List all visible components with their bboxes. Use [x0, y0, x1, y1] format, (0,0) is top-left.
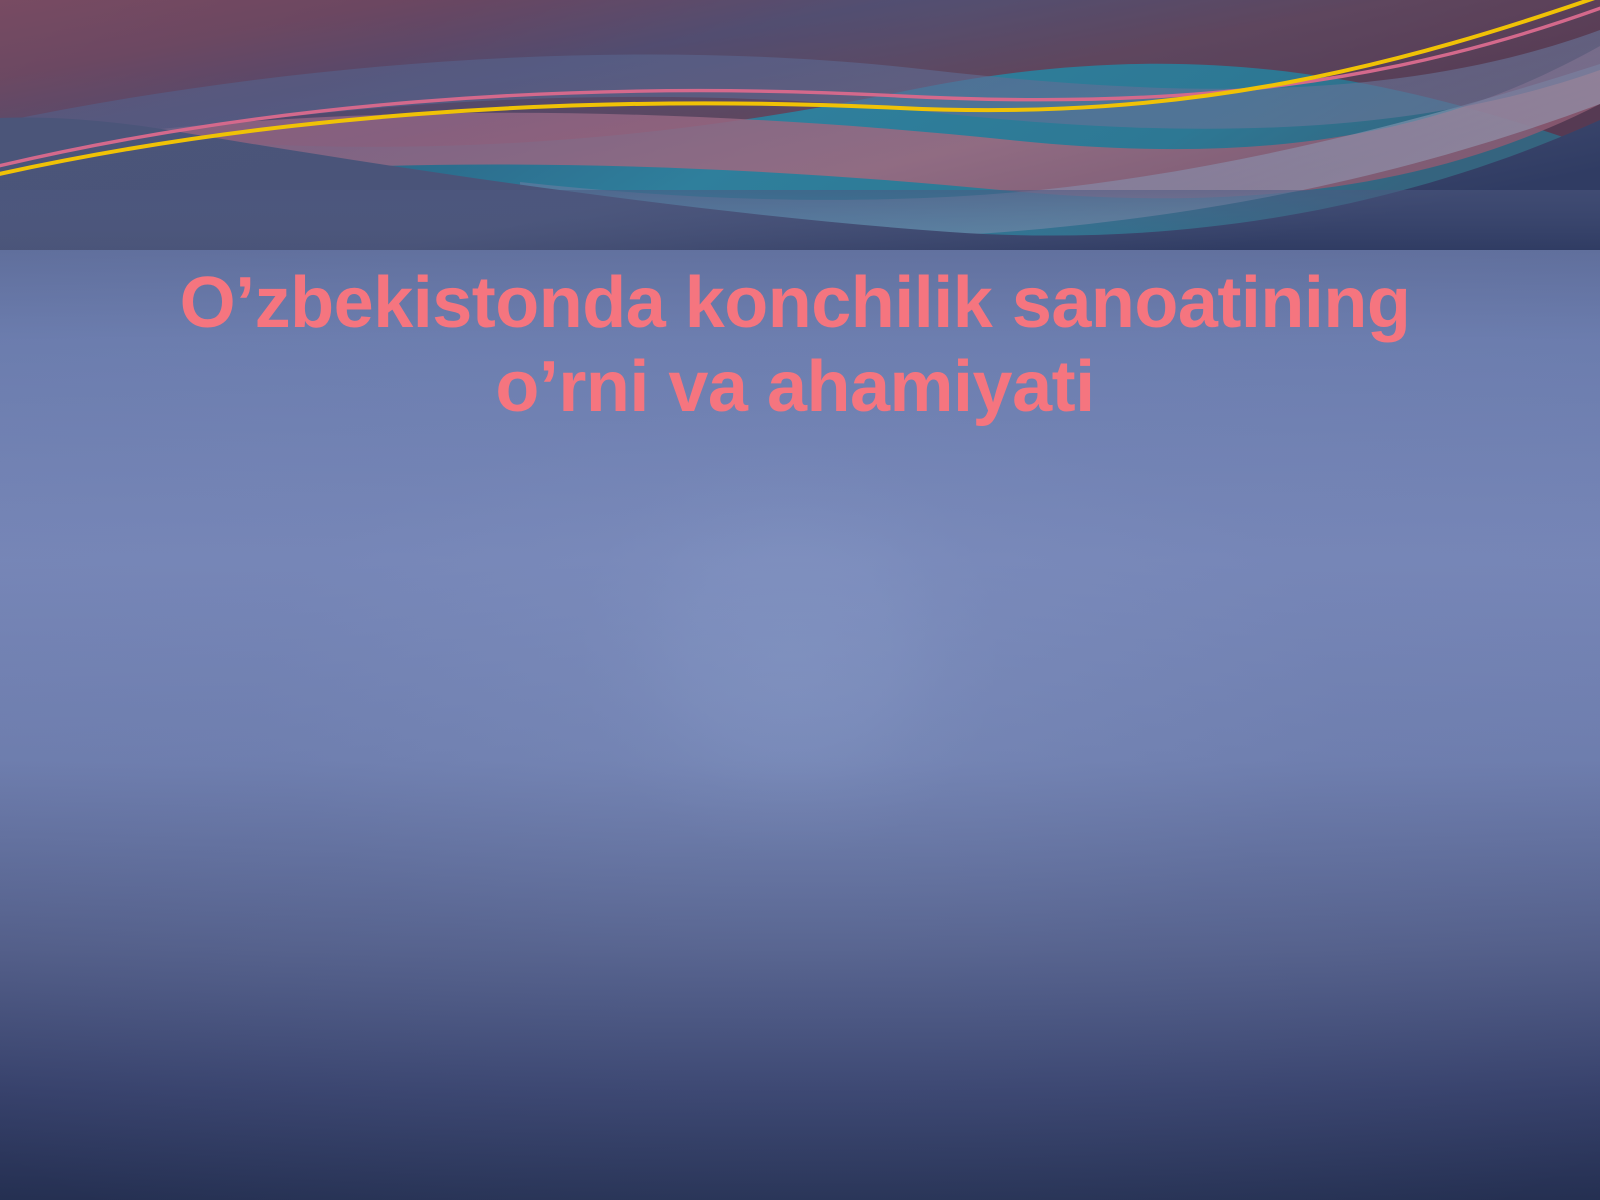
header-wave-decoration [0, 0, 1600, 250]
header-fade-strip [0, 190, 1600, 250]
title-placeholder[interactable]: O’zbekistonda konchilik sanoatining o’rn… [150, 262, 1440, 429]
slide-canvas: O’zbekistonda konchilik sanoatining o’rn… [0, 0, 1600, 1200]
slide-title: O’zbekistonda konchilik sanoatining o’rn… [150, 262, 1440, 429]
